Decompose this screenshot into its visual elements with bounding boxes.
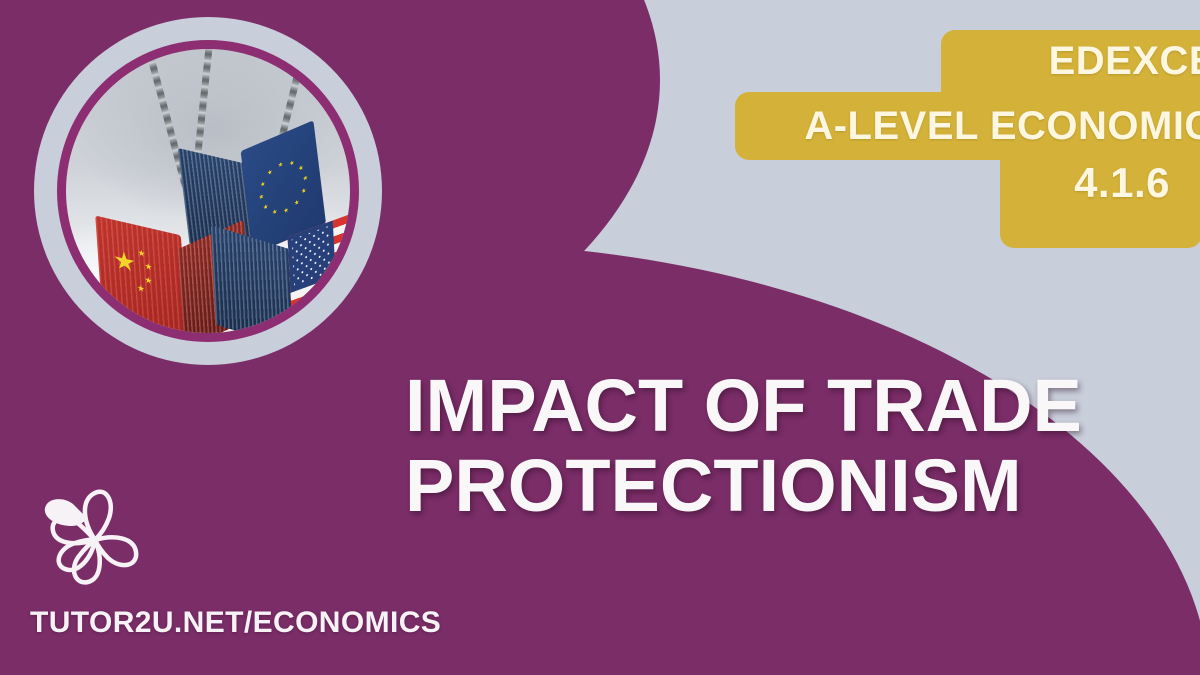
- badge-qualification: A-LEVEL ECONOMICS: [735, 92, 1200, 160]
- badge-spec-code-label: 4.1.6: [1074, 162, 1170, 204]
- page-title-line-2: PROTECTIONISM: [405, 446, 1105, 526]
- page-title-line-1: IMPACT OF TRADE: [405, 364, 1082, 447]
- china-flag-small-star-icon: [145, 276, 153, 285]
- badge-qualification-label: A-LEVEL ECONOMICS: [804, 106, 1200, 146]
- badge-spec-code: 4.1.6: [1000, 160, 1200, 248]
- qualification-badge-group: EDEXCEL A-LEVEL ECONOMICS 4.1.6: [0, 0, 1200, 275]
- brand-url: TUTOR2U.NET/ECONOMICS: [30, 606, 441, 640]
- china-flag-small-star-icon: [137, 284, 145, 293]
- badge-exam-board: EDEXCEL: [941, 30, 1200, 92]
- slide-canvas: EDEXCEL A-LEVEL ECONOMICS 4.1.6 IMPACT O…: [0, 0, 1200, 675]
- page-title: IMPACT OF TRADE PROTECTIONISM: [405, 366, 1105, 526]
- badge-exam-board-label: EDEXCEL: [1049, 41, 1200, 81]
- tutor2u-flower-logo: [33, 482, 157, 598]
